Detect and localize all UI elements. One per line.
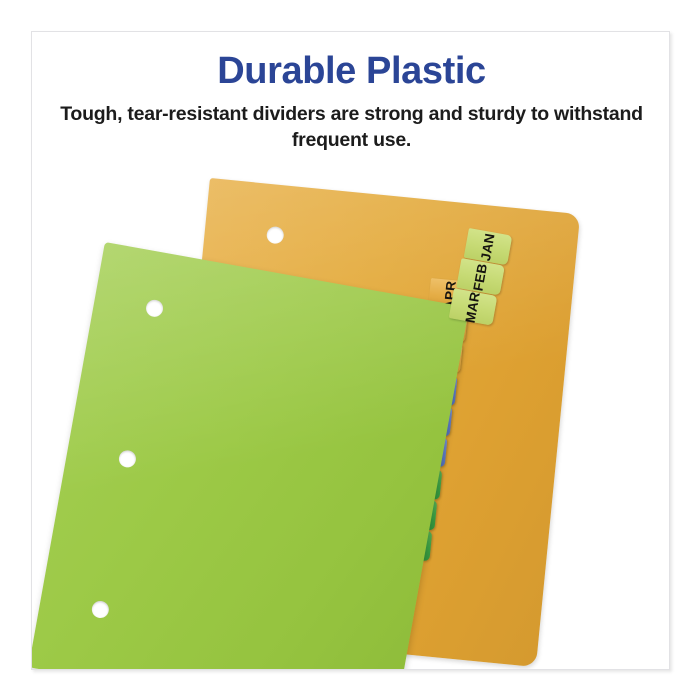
product-photo: APR MAY JUN JUL AUG SEP OCT: [32, 142, 670, 670]
tab-label: FEB: [471, 262, 491, 292]
green-divider-sheet: [31, 242, 469, 670]
punch-hole: [266, 226, 285, 245]
punch-hole: [90, 600, 110, 620]
tab-label: MAR: [463, 290, 483, 324]
tab-label: JAN: [478, 232, 498, 262]
page-title: Durable Plastic: [32, 52, 670, 92]
image-card: Durable Plastic Tough, tear-resistant di…: [31, 31, 670, 670]
product-image: Durable Plastic Tough, tear-resistant di…: [0, 0, 700, 700]
punch-hole: [118, 449, 138, 469]
punch-hole: [145, 298, 165, 318]
